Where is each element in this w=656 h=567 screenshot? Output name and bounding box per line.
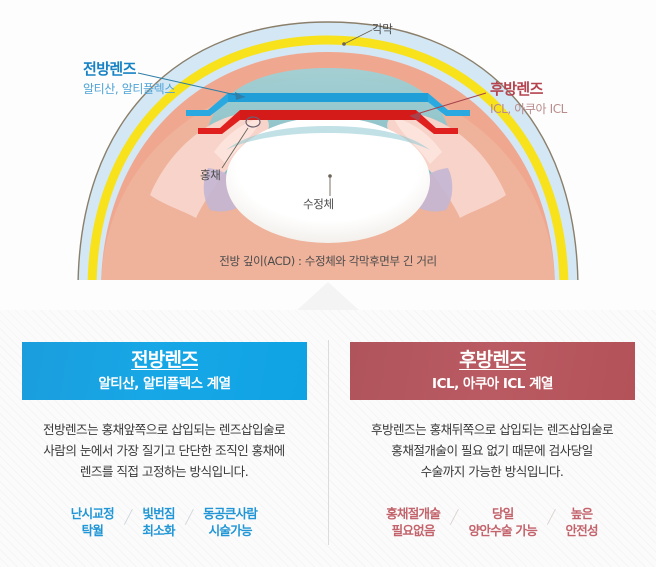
panel-posterior-lens: 후방렌즈 ICL, 아쿠아 ICL 계열 후방렌즈는 홍채뒤쪽으로 삽입되는 렌… <box>328 310 656 567</box>
label-anterior-lens-title: 전방렌즈 <box>83 60 175 79</box>
tag-item: 빛번짐 최소화 <box>142 506 174 540</box>
tag-separator: / <box>535 506 568 530</box>
tag-line-2: 안전성 <box>565 523 597 540</box>
label-posterior-lens-title: 후방렌즈 <box>490 80 567 99</box>
panel-anterior-lens: 전방렌즈 알티산, 알티플렉스 계열 전방렌즈는 홍채앞쪽으로 삽입되는 렌즈삽… <box>0 310 328 567</box>
panel-anterior-description: 전방렌즈는 홍채앞쪽으로 삽입되는 렌즈삽입술로 사람의 눈에서 가장 질기고 … <box>14 420 314 482</box>
description-line: 후방렌즈는 홍채뒤쪽으로 삽입되는 렌즈삽입술로 <box>342 420 642 441</box>
tag-line-1: 빛번짐 <box>142 506 174 523</box>
lens-comparison-section: 전방렌즈 알티산, 알티플렉스 계열 전방렌즈는 홍채앞쪽으로 삽입되는 렌즈삽… <box>0 310 656 567</box>
eye-cross-section-illustration <box>0 0 656 290</box>
label-anterior-lens-group: 전방렌즈 알티산, 알티플렉스 <box>83 60 175 97</box>
label-posterior-lens-group: 후방렌즈 ICL, 아쿠아 ICL <box>490 80 567 117</box>
tag-line-2: 최소화 <box>142 523 174 540</box>
tag-line-2: 필요없음 <box>386 523 440 540</box>
tag-item: 높은 안전성 <box>565 506 597 540</box>
description-line: 수술까지 가능한 방식입니다. <box>342 462 642 483</box>
tag-line-1: 동공큰사람 <box>203 506 257 523</box>
description-line: 사람의 눈에서 가장 질기고 단단한 조직인 홍채에 <box>14 441 314 462</box>
tag-item: 당일 양안수술 가능 <box>469 506 537 540</box>
tag-line-1: 높은 <box>565 506 597 523</box>
description-line: 전방렌즈는 홍채앞쪽으로 삽입되는 렌즈삽입술로 <box>14 420 314 441</box>
label-anterior-lens-brands: 알티산, 알티플렉스 <box>83 82 175 97</box>
panel-anterior-tag-row: 난시교정 탁월 / 빛번짐 최소화 / 동공큰사람 시술가능 <box>8 506 320 540</box>
panel-posterior-header: 후방렌즈 ICL, 아쿠아 ICL 계열 <box>350 342 635 400</box>
acd-caption: 전방 깊이(ACD) : 수정체와 각막후면부 긴 거리 <box>0 253 656 269</box>
panel-posterior-tag-row: 홍채절개술 필요없음 / 당일 양안수술 가능 / 높은 안전성 <box>336 506 648 540</box>
tag-line-1: 홍채절개술 <box>386 506 440 523</box>
tag-line-2: 시술가능 <box>203 523 257 540</box>
tag-line-1: 난시교정 <box>71 506 114 523</box>
panel-anterior-subtitle: 알티산, 알티플렉스 계열 <box>98 377 230 393</box>
tag-item: 난시교정 탁월 <box>71 506 114 540</box>
leader-dot-cornea <box>342 42 346 46</box>
tag-separator: / <box>172 506 205 530</box>
label-crystalline-lens: 수정체 <box>303 197 334 211</box>
description-line: 홍채절개술이 필요 없기 때문에 검사당일 <box>342 441 642 462</box>
description-line: 렌즈를 직접 고정하는 방식입니다. <box>14 462 314 483</box>
panel-anterior-title: 전방렌즈 <box>131 350 198 372</box>
panel-posterior-title: 후방렌즈 <box>459 350 526 372</box>
tag-line-2: 탁월 <box>71 523 114 540</box>
label-posterior-lens-brands: ICL, 아쿠아 ICL <box>490 102 567 117</box>
tag-line-2: 양안수술 가능 <box>469 523 537 540</box>
label-iris: 홍채 <box>200 168 221 182</box>
eye-anatomy-diagram: 각막 홍채 수정체 전방렌즈 알티산, 알티플렉스 후방렌즈 ICL, 아쿠아 … <box>0 0 656 290</box>
tag-item: 홍채절개술 필요없음 <box>386 506 440 540</box>
tag-separator: / <box>438 506 471 530</box>
panel-posterior-description: 후방렌즈는 홍채뒤쪽으로 삽입되는 렌즈삽입술로 홍채절개술이 필요 없기 때문… <box>342 420 642 482</box>
infographic-page: 각막 홍채 수정체 전방렌즈 알티산, 알티플렉스 후방렌즈 ICL, 아쿠아 … <box>0 0 656 567</box>
panel-posterior-subtitle: ICL, 아쿠아 ICL 계열 <box>432 377 553 393</box>
panel-anterior-header: 전방렌즈 알티산, 알티플렉스 계열 <box>22 342 307 400</box>
tag-separator: / <box>111 506 144 530</box>
tag-item: 동공큰사람 시술가능 <box>203 506 257 540</box>
leader-dot-lens <box>328 174 332 178</box>
label-cornea: 각막 <box>372 22 393 36</box>
tag-line-1: 당일 <box>469 506 537 523</box>
